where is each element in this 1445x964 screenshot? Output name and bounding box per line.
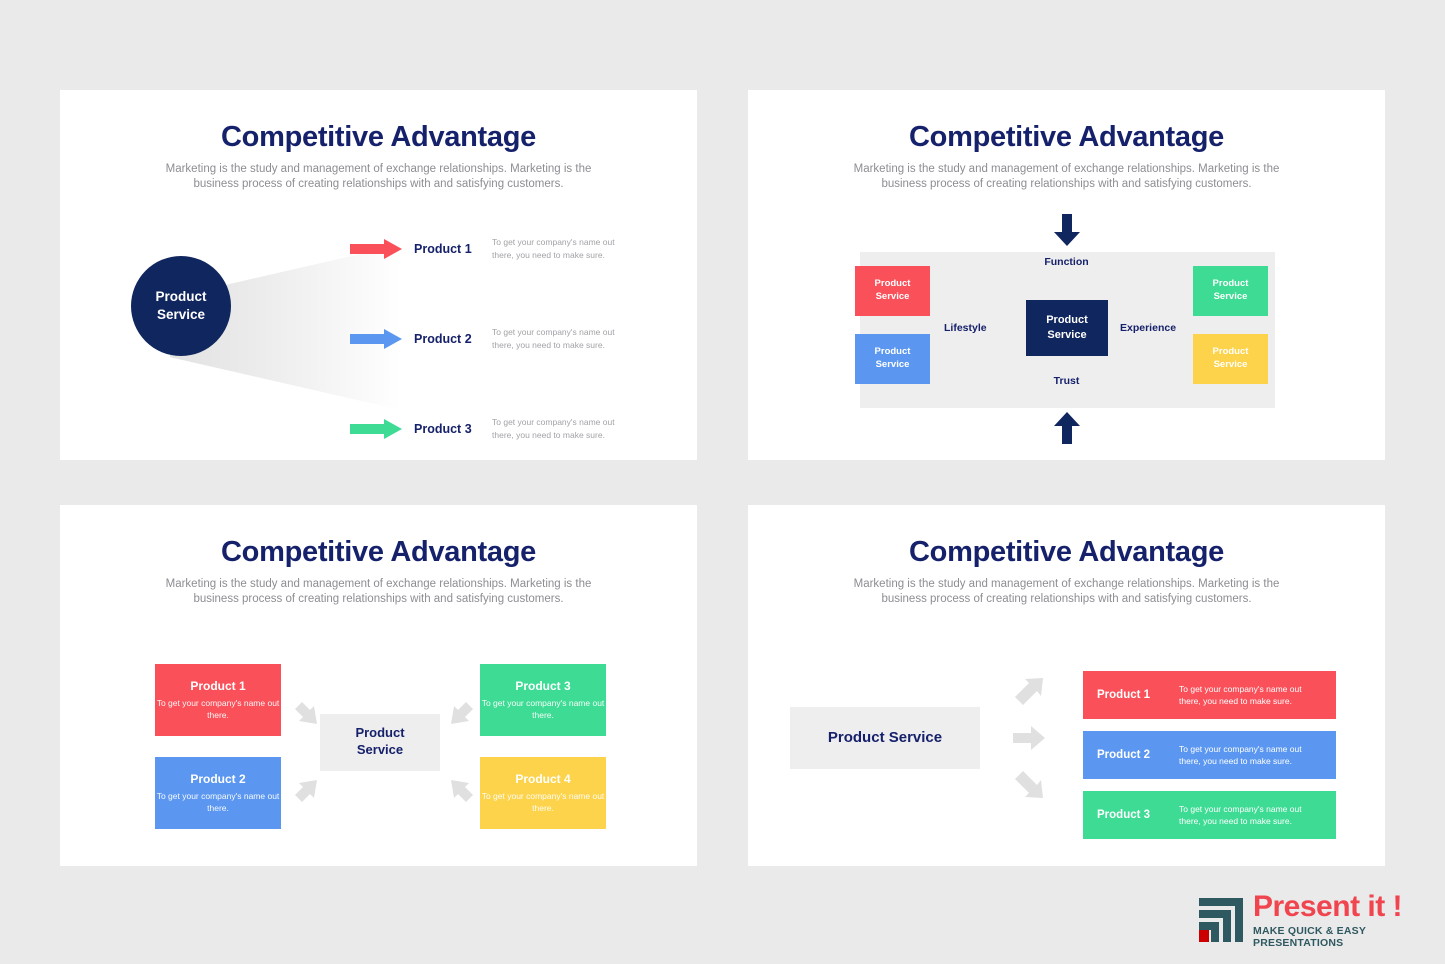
axis-label-right: Experience xyxy=(1120,322,1176,334)
list-row-product-1[interactable]: Product 1 To get your company's name out… xyxy=(1083,671,1336,719)
funnel-diagram: Product Service Product 1 To get your co… xyxy=(60,210,697,440)
funnel-source-circle[interactable]: Product Service xyxy=(131,256,231,356)
funnel-row-desc: To get your company's name out there, yo… xyxy=(492,326,632,352)
slide-panel-4[interactable]: Competitive Advantage Marketing is the s… xyxy=(748,505,1385,866)
arrow-up-left-icon xyxy=(448,777,476,805)
quadrant-box-desc: To get your company's name out there. xyxy=(155,697,281,722)
funnel-row-desc: To get your company's name out there, yo… xyxy=(492,236,632,262)
funnel-circle-line2: Service xyxy=(157,306,205,324)
matrix-box-top-right[interactable]: Product Service xyxy=(1193,266,1268,316)
quadrant-box-desc: To get your company's name out there. xyxy=(155,790,281,815)
matrix-box-line1: Product xyxy=(1213,346,1249,359)
quadrant-box-product-2[interactable]: Product 2 To get your company's name out… xyxy=(155,757,281,829)
right-arrow-icon xyxy=(350,419,402,439)
quadrant-center-box[interactable]: Product Service xyxy=(320,714,440,771)
quadrant-center-line2: Service xyxy=(357,742,403,759)
quadrant-box-title: Product 2 xyxy=(190,772,245,786)
list-row-desc: To get your company's name out there, yo… xyxy=(1179,803,1319,828)
list-row-title: Product 1 xyxy=(1097,689,1179,701)
matrix-box-top-left[interactable]: Product Service xyxy=(855,266,930,316)
logo-wordmark: Present it ! xyxy=(1253,892,1437,922)
list-arrow-group xyxy=(1013,675,1053,805)
arrow-right-icon xyxy=(1013,723,1045,753)
quadrant-box-desc: To get your company's name out there. xyxy=(480,790,606,815)
matrix-center-box[interactable]: Product Service xyxy=(1026,300,1108,356)
slide-panel-3[interactable]: Competitive Advantage Marketing is the s… xyxy=(60,505,697,866)
page-title: Competitive Advantage xyxy=(60,505,697,567)
right-arrow-icon xyxy=(350,239,402,259)
matrix-box-line1: Product xyxy=(1213,278,1249,291)
matrix-center-line1: Product xyxy=(1046,313,1088,328)
quadrant-box-title: Product 3 xyxy=(515,679,570,693)
axis-label-left: Lifestyle xyxy=(944,322,987,334)
list-row-product-3[interactable]: Product 3 To get your company's name out… xyxy=(1083,791,1336,839)
matrix-center-line2: Service xyxy=(1047,328,1086,343)
matrix-box-bottom-left[interactable]: Product Service xyxy=(855,334,930,384)
arrow-down-icon xyxy=(1054,214,1080,246)
page-title: Competitive Advantage xyxy=(748,505,1385,567)
axis-label-top: Function xyxy=(748,256,1385,268)
list-row-product-2[interactable]: Product 2 To get your company's name out… xyxy=(1083,731,1336,779)
matrix-box-bottom-right[interactable]: Product Service xyxy=(1193,334,1268,384)
matrix-box-line2: Service xyxy=(876,359,910,372)
funnel-row-label: Product 1 xyxy=(414,242,492,256)
logo-text-group: Present it ! MAKE QUICK & EASY PRESENTAT… xyxy=(1253,892,1437,949)
quadrant-box-product-1[interactable]: Product 1 To get your company's name out… xyxy=(155,664,281,736)
matrix-box-line2: Service xyxy=(1214,291,1248,304)
matrix-box-line2: Service xyxy=(1214,359,1248,372)
arrow-down-right-icon xyxy=(1013,769,1045,799)
funnel-row[interactable]: Product 3 To get your company's name out… xyxy=(350,398,680,460)
list-diagram: Product Service Product 1 To get your co… xyxy=(748,645,1385,860)
quadrant-center-line1: Product xyxy=(355,725,404,742)
page-subtitle: Marketing is the study and management of… xyxy=(144,162,614,192)
arrow-down-right-icon xyxy=(292,699,320,727)
arrow-up-right-icon xyxy=(1013,677,1045,707)
list-row-desc: To get your company's name out there, yo… xyxy=(1179,743,1319,768)
axis-label-bottom: Trust xyxy=(748,375,1385,387)
arrow-up-right-icon xyxy=(292,777,320,805)
quadrant-box-product-4[interactable]: Product 4 To get your company's name out… xyxy=(480,757,606,829)
funnel-row-list: Product 1 To get your company's name out… xyxy=(350,218,680,488)
quadrant-box-title: Product 1 xyxy=(190,679,245,693)
list-row-title: Product 3 xyxy=(1097,809,1179,821)
slide-panel-1[interactable]: Competitive Advantage Marketing is the s… xyxy=(60,90,697,460)
matrix-box-line1: Product xyxy=(875,346,911,359)
funnel-row-label: Product 2 xyxy=(414,332,492,346)
page-title: Competitive Advantage xyxy=(60,90,697,152)
arrow-down-left-icon xyxy=(448,699,476,727)
quadrant-box-product-3[interactable]: Product 3 To get your company's name out… xyxy=(480,664,606,736)
quadrant-box-desc: To get your company's name out there. xyxy=(480,697,606,722)
matrix-box-line1: Product xyxy=(875,278,911,291)
funnel-row[interactable]: Product 1 To get your company's name out… xyxy=(350,218,680,280)
slide-panel-2[interactable]: Competitive Advantage Marketing is the s… xyxy=(748,90,1385,460)
present-it-logo-icon xyxy=(1197,896,1245,944)
right-arrow-icon xyxy=(350,329,402,349)
quadrant-box-title: Product 4 xyxy=(515,772,570,786)
funnel-row[interactable]: Product 2 To get your company's name out… xyxy=(350,308,680,370)
list-source-box[interactable]: Product Service xyxy=(790,707,980,769)
funnel-row-label: Product 3 xyxy=(414,422,492,436)
list-row-desc: To get your company's name out there, yo… xyxy=(1179,683,1319,708)
funnel-row-desc: To get your company's name out there, yo… xyxy=(492,416,632,442)
page-subtitle: Marketing is the study and management of… xyxy=(832,577,1302,607)
funnel-circle-line1: Product xyxy=(155,288,206,306)
matrix-diagram: Function Trust Lifestyle Experience Prod… xyxy=(748,200,1385,450)
page-title: Competitive Advantage xyxy=(748,90,1385,152)
list-source-label: Product Service xyxy=(828,729,942,746)
matrix-box-line2: Service xyxy=(876,291,910,304)
brand-logo[interactable]: Present it ! MAKE QUICK & EASY PRESENTAT… xyxy=(1197,892,1437,948)
page-subtitle: Marketing is the study and management of… xyxy=(144,577,614,607)
logo-tagline: MAKE QUICK & EASY PRESENTATIONS xyxy=(1253,925,1437,949)
list-row-title: Product 2 xyxy=(1097,749,1179,761)
page-subtitle: Marketing is the study and management of… xyxy=(832,162,1302,192)
arrow-up-icon xyxy=(1054,412,1080,444)
quadrant-diagram: Product 1 To get your company's name out… xyxy=(60,637,697,852)
slide-deck-canvas: Competitive Advantage Marketing is the s… xyxy=(0,0,1445,964)
